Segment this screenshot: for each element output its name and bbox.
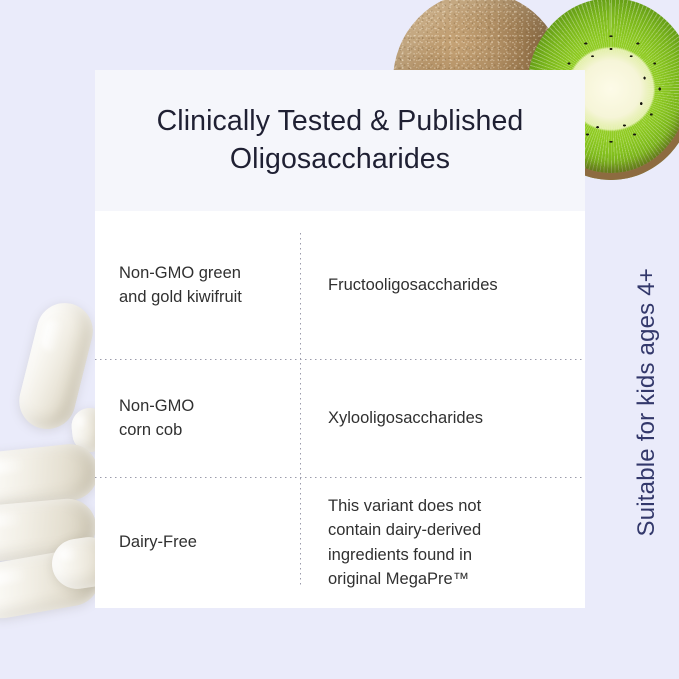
source-label: Dairy-Free	[119, 530, 280, 554]
source-label: Non-GMO green and gold kiwifruit	[119, 261, 280, 310]
table-row: Non-GMO corn cob Xylooligosaccharides	[95, 359, 585, 477]
table-cell-source: Dairy-Free	[95, 530, 300, 554]
table-cell-source: Non-GMO green and gold kiwifruit	[95, 261, 300, 310]
compound-label: Xylooligosaccharides	[328, 406, 569, 430]
card-header: Clinically Tested & Published Oligosacch…	[95, 70, 585, 211]
ingredients-table: Non-GMO green and gold kiwifruit Fructoo…	[95, 211, 585, 608]
source-label: Non-GMO corn cob	[119, 394, 280, 443]
compound-label: This variant does not contain dairy-deri…	[328, 494, 569, 592]
table-cell-compound: Xylooligosaccharides	[300, 406, 585, 430]
compound-label: Fructooligosaccharides	[328, 273, 569, 297]
table-row: Non-GMO green and gold kiwifruit Fructoo…	[95, 211, 585, 359]
side-caption: Suitable for kids ages 4+	[625, 216, 669, 588]
table-row: Dairy-Free This variant does not contain…	[95, 477, 585, 608]
table-cell-compound: This variant does not contain dairy-deri…	[300, 494, 585, 592]
side-caption-text: Suitable for kids ages 4+	[633, 268, 661, 537]
table-cell-source: Non-GMO corn cob	[95, 394, 300, 443]
table-cell-compound: Fructooligosaccharides	[300, 273, 585, 297]
info-card: Clinically Tested & Published Oligosacch…	[95, 70, 585, 608]
page-title: Clinically Tested & Published Oligosacch…	[157, 103, 524, 179]
